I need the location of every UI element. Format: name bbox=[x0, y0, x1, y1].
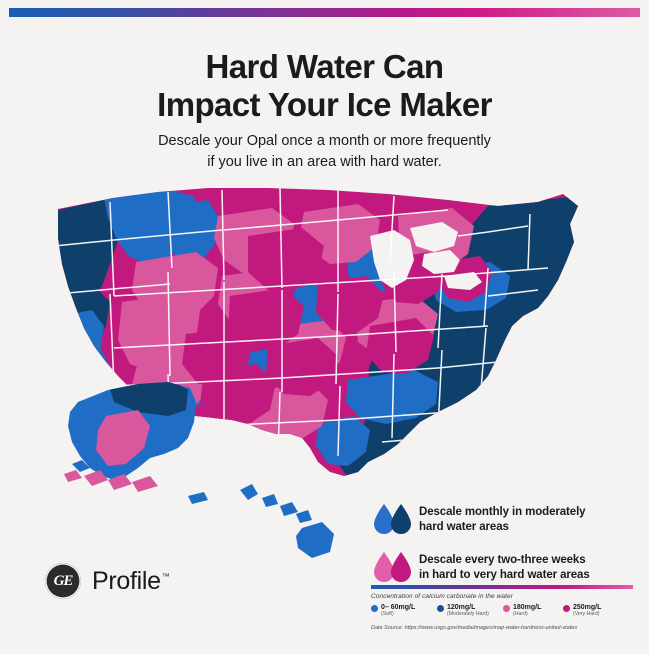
scale-gradient-bar bbox=[371, 585, 633, 589]
scale-dot-very-hard bbox=[563, 605, 570, 612]
scale-value-hard: 180mg/L bbox=[513, 604, 541, 611]
alaska-island-5 bbox=[132, 476, 158, 492]
concentration-scale: Concentration of calcium carbonate in th… bbox=[371, 585, 633, 631]
drop-legend: Descale monthly in moderately hard water… bbox=[371, 502, 621, 598]
scale-sublabel-hard: (Hard) bbox=[513, 612, 541, 617]
hawaii-oahu bbox=[262, 494, 278, 507]
subtitle-line-2: if you live in an area with hard water. bbox=[0, 152, 649, 173]
subtitle-line-1: Descale your Opal once a month or more f… bbox=[158, 133, 491, 149]
scale-item-soft: 0– 60mg/L (Soft) bbox=[371, 604, 437, 617]
scale-label-hard: 180mg/L (Hard) bbox=[513, 604, 541, 617]
scale-legend-items: 0– 60mg/L (Soft) 120mg/L (Moderately Har… bbox=[371, 604, 633, 617]
legend-item-moderately-hard: Descale monthly in moderately hard water… bbox=[371, 502, 621, 538]
water-drop-pair-blue-icon bbox=[371, 502, 419, 538]
scale-sublabel-moderately-hard: (Moderately Hard) bbox=[447, 612, 489, 617]
scale-sublabel-very-hard: (Very Hard) bbox=[573, 612, 601, 617]
legend-line-2: in hard to very hard water areas bbox=[419, 568, 590, 583]
scale-sublabel-soft: (Soft) bbox=[381, 612, 415, 617]
legend-text-hard: Descale every two-three weeks in hard to… bbox=[419, 553, 590, 583]
legend-item-hard: Descale every two-three weeks in hard to… bbox=[371, 550, 621, 586]
page-subtitle: Descale your Opal once a month or more f… bbox=[0, 131, 649, 173]
trademark-symbol: ™ bbox=[162, 572, 170, 581]
map-puerto-rico bbox=[188, 492, 208, 504]
legend-line-2: hard water areas bbox=[419, 520, 585, 535]
map-hawaii bbox=[240, 484, 334, 558]
scale-label-very-hard: 250mg/L (Very Hard) bbox=[573, 604, 601, 617]
region-nevada-california bbox=[56, 310, 104, 380]
scale-dot-moderately-hard bbox=[437, 605, 444, 612]
scale-value-moderately-hard: 120mg/L bbox=[447, 604, 489, 611]
scale-dot-hard bbox=[503, 605, 510, 612]
ge-monogram-icon: GE bbox=[45, 563, 81, 599]
scale-label-soft: 0– 60mg/L (Soft) bbox=[381, 604, 415, 617]
page-title: Hard Water Can Impact Your Ice Maker bbox=[0, 48, 649, 124]
top-gradient-bar bbox=[9, 8, 640, 17]
scale-value-very-hard: 250mg/L bbox=[573, 604, 601, 611]
scale-item-moderately-hard: 120mg/L (Moderately Hard) bbox=[437, 604, 503, 617]
legend-line-1: Descale monthly in moderately bbox=[419, 506, 585, 518]
title-line-2: Impact Your Ice Maker bbox=[0, 86, 649, 124]
brand-name-text: Profile bbox=[92, 567, 161, 595]
scale-dot-soft bbox=[371, 605, 378, 612]
hawaii-molokai bbox=[280, 502, 298, 516]
title-line-1: Hard Water Can bbox=[206, 48, 444, 85]
scale-value-soft: 0– 60mg/L bbox=[381, 604, 415, 611]
scale-item-very-hard: 250mg/L (Very Hard) bbox=[563, 604, 633, 617]
scale-item-hard: 180mg/L (Hard) bbox=[503, 604, 563, 617]
infographic-page: Hard Water Can Impact Your Ice Maker Des… bbox=[0, 0, 649, 654]
legend-text-moderately-hard: Descale monthly in moderately hard water… bbox=[419, 505, 585, 535]
brand-name: Profile™ bbox=[92, 567, 169, 596]
alaska-island-2 bbox=[64, 470, 82, 482]
data-source-text: Data Source: https://www.usgs.gov/media/… bbox=[371, 625, 633, 631]
scale-caption: Concentration of calcium carbonate in th… bbox=[371, 593, 633, 600]
scale-label-moderately-hard: 120mg/L (Moderately Hard) bbox=[447, 604, 489, 617]
hawaii-maui bbox=[296, 510, 312, 523]
ge-profile-logo: GE Profile™ bbox=[45, 563, 169, 599]
water-drop-pair-pink-icon bbox=[371, 550, 419, 586]
hawaii-kauai bbox=[240, 484, 258, 500]
ge-monogram-text: GE bbox=[54, 573, 73, 590]
legend-line-1: Descale every two-three weeks bbox=[419, 554, 586, 566]
hawaii-bigisland bbox=[296, 522, 334, 558]
